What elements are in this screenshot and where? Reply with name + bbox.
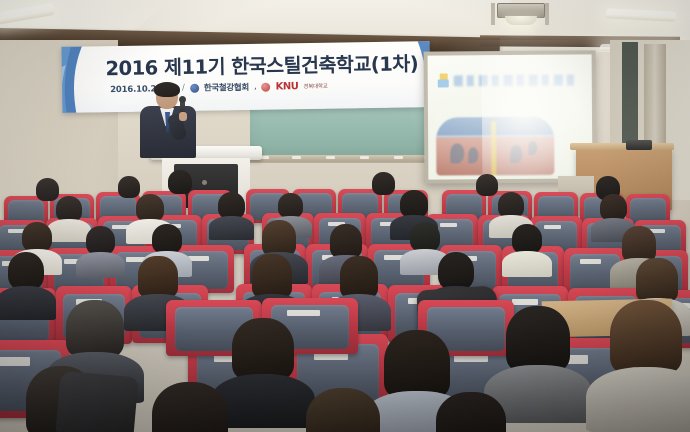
attendee	[410, 222, 440, 252]
attendee	[506, 306, 570, 372]
lecture-hall-photo: 2016 제11기 한국스틸건축학교(1차) 2016.10.25(화) / 한…	[0, 0, 690, 432]
attendee	[218, 192, 245, 219]
attendee	[622, 226, 656, 262]
attendee	[232, 318, 294, 380]
attendee	[400, 190, 428, 218]
attendee	[152, 224, 182, 254]
attendee	[636, 258, 678, 302]
attendee	[306, 388, 380, 432]
attendee	[22, 222, 52, 252]
attendee	[610, 300, 682, 374]
attendee	[66, 300, 124, 358]
attendee	[438, 252, 474, 290]
attendee	[168, 170, 192, 194]
attendee	[512, 224, 542, 254]
attendee	[252, 254, 292, 298]
bag	[55, 371, 138, 432]
attendee	[8, 252, 44, 290]
attendee	[278, 193, 303, 218]
attendee	[340, 256, 378, 298]
attendee	[152, 382, 228, 432]
attendee	[436, 392, 506, 432]
audience-seating	[0, 0, 690, 432]
attendee	[136, 194, 164, 222]
attendee	[330, 224, 362, 258]
attendee	[498, 192, 524, 218]
attendee	[138, 256, 178, 298]
attendee	[262, 220, 296, 256]
attendee	[56, 196, 82, 222]
attendee	[372, 172, 395, 195]
attendee	[384, 330, 450, 398]
attendee	[86, 226, 115, 255]
attendee	[600, 194, 627, 221]
attendee	[476, 174, 498, 196]
